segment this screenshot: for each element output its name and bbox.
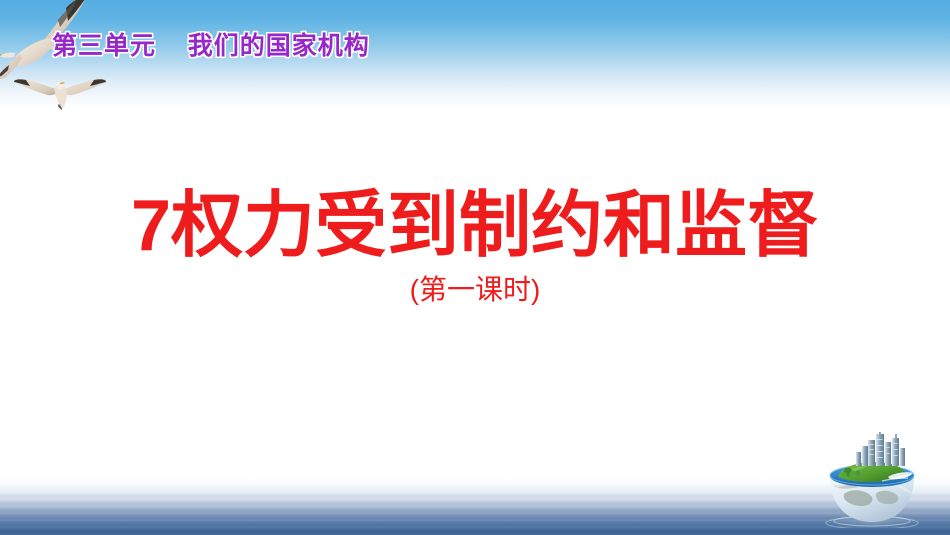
sea-ripple-texture bbox=[0, 491, 950, 535]
presentation-slide: 第三单元 我们的国家机构 7权力受到制约和监督 (第一课时) bbox=[0, 0, 950, 535]
slide-main-title: 7权力受到制约和监督 bbox=[0, 188, 950, 266]
unit-header-text: 第三单元 我们的国家机构 bbox=[52, 31, 370, 61]
slide-subtitle: (第一课时) bbox=[0, 274, 950, 306]
